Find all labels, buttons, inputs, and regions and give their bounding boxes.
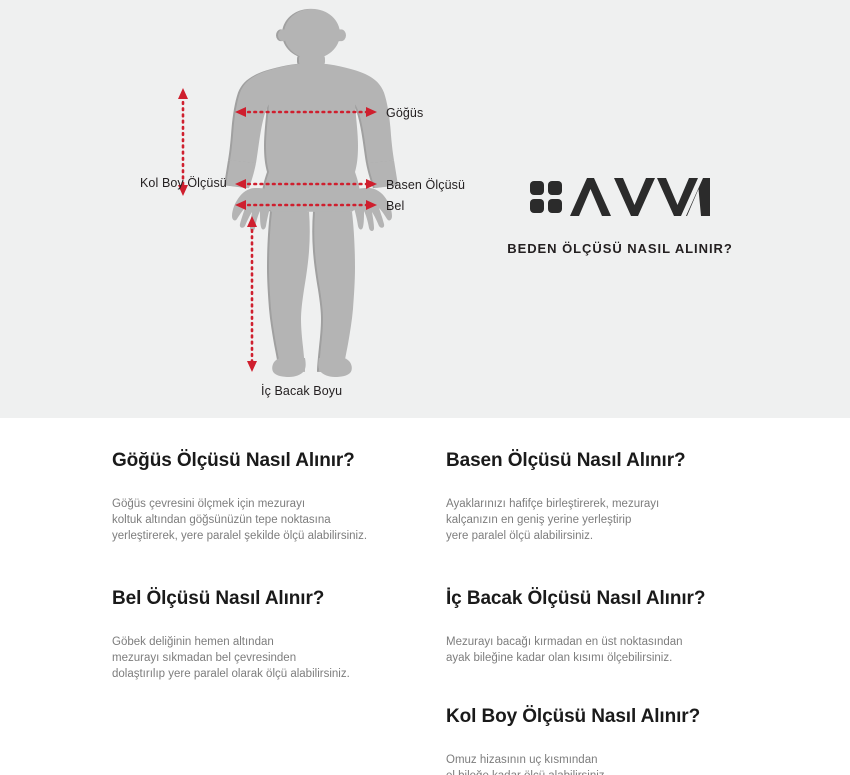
arrow-inseam	[247, 216, 257, 372]
brand-tagline: BEDEN ÖLÇÜSÜ NASIL ALINIR?	[470, 241, 770, 256]
info-section: Göğüs Ölçüsü Nasıl Alınır? Göğüs çevresi…	[0, 418, 850, 775]
qa-chest: Göğüs Ölçüsü Nasıl Alınır? Göğüs çevresi…	[112, 450, 452, 544]
qa-chest-title: Göğüs Ölçüsü Nasıl Alınır?	[112, 450, 452, 472]
info-column-right: Basen Ölçüsü Nasıl Alınır? Ayaklarınızı …	[446, 450, 786, 775]
qa-waist: Bel Ölçüsü Nasıl Alınır? Göbek deliğinin…	[112, 588, 452, 682]
qa-waist-body: Göbek deliğinin hemen altından mezurayı …	[112, 634, 452, 682]
qa-inseam: İç Bacak Ölçüsü Nasıl Alınır? Mezurayı b…	[446, 588, 786, 666]
avva-logo	[470, 176, 770, 218]
diagram-label-chest: Göğüs	[386, 106, 423, 120]
diagram-label-waist: Bel	[386, 199, 404, 213]
brand-block: BEDEN ÖLÇÜSÜ NASIL ALINIR?	[470, 176, 770, 256]
qa-waist-title: Bel Ölçüsü Nasıl Alınır?	[112, 588, 452, 610]
diagram-label-inseam: İç Bacak Boyu	[261, 384, 342, 398]
qa-inseam-body: Mezurayı bacağı kırmadan en üst noktasın…	[446, 634, 786, 666]
human-body-silhouette-icon	[60, 0, 480, 418]
qa-sleeve-title: Kol Boy Ölçüsü Nasıl Alınır?	[446, 706, 786, 728]
hero-section: Göğüs Basen Ölçüsü Bel Kol Boy Ölçüsü İç…	[0, 0, 850, 418]
hands	[232, 188, 392, 377]
diagram-label-hip: Basen Ölçüsü	[386, 178, 465, 192]
qa-chest-body: Göğüs çevresini ölçmek için mezurayı kol…	[112, 496, 452, 544]
qa-hip-title: Basen Ölçüsü Nasıl Alınır?	[446, 450, 786, 472]
qa-sleeve: Kol Boy Ölçüsü Nasıl Alınır? Omuz hizası…	[446, 706, 786, 775]
qa-hip: Basen Ölçüsü Nasıl Alınır? Ayaklarınızı …	[446, 450, 786, 544]
qa-hip-body: Ayaklarınızı hafifçe birleştirerek, mezu…	[446, 496, 786, 544]
avva-wordmark-icon	[570, 178, 710, 216]
body-diagram: Göğüs Basen Ölçüsü Bel Kol Boy Ölçüsü İç…	[60, 0, 480, 418]
diagram-label-sleeve: Kol Boy Ölçüsü	[140, 176, 227, 190]
size-guide-page: Göğüs Basen Ölçüsü Bel Kol Boy Ölçüsü İç…	[0, 0, 850, 775]
four-squares-icon	[530, 181, 562, 213]
qa-sleeve-body: Omuz hizasının uç kısmından el bileğe ka…	[446, 752, 786, 775]
qa-inseam-title: İç Bacak Ölçüsü Nasıl Alınır?	[446, 588, 786, 610]
info-column-left: Göğüs Ölçüsü Nasıl Alınır? Göğüs çevresi…	[112, 450, 452, 706]
